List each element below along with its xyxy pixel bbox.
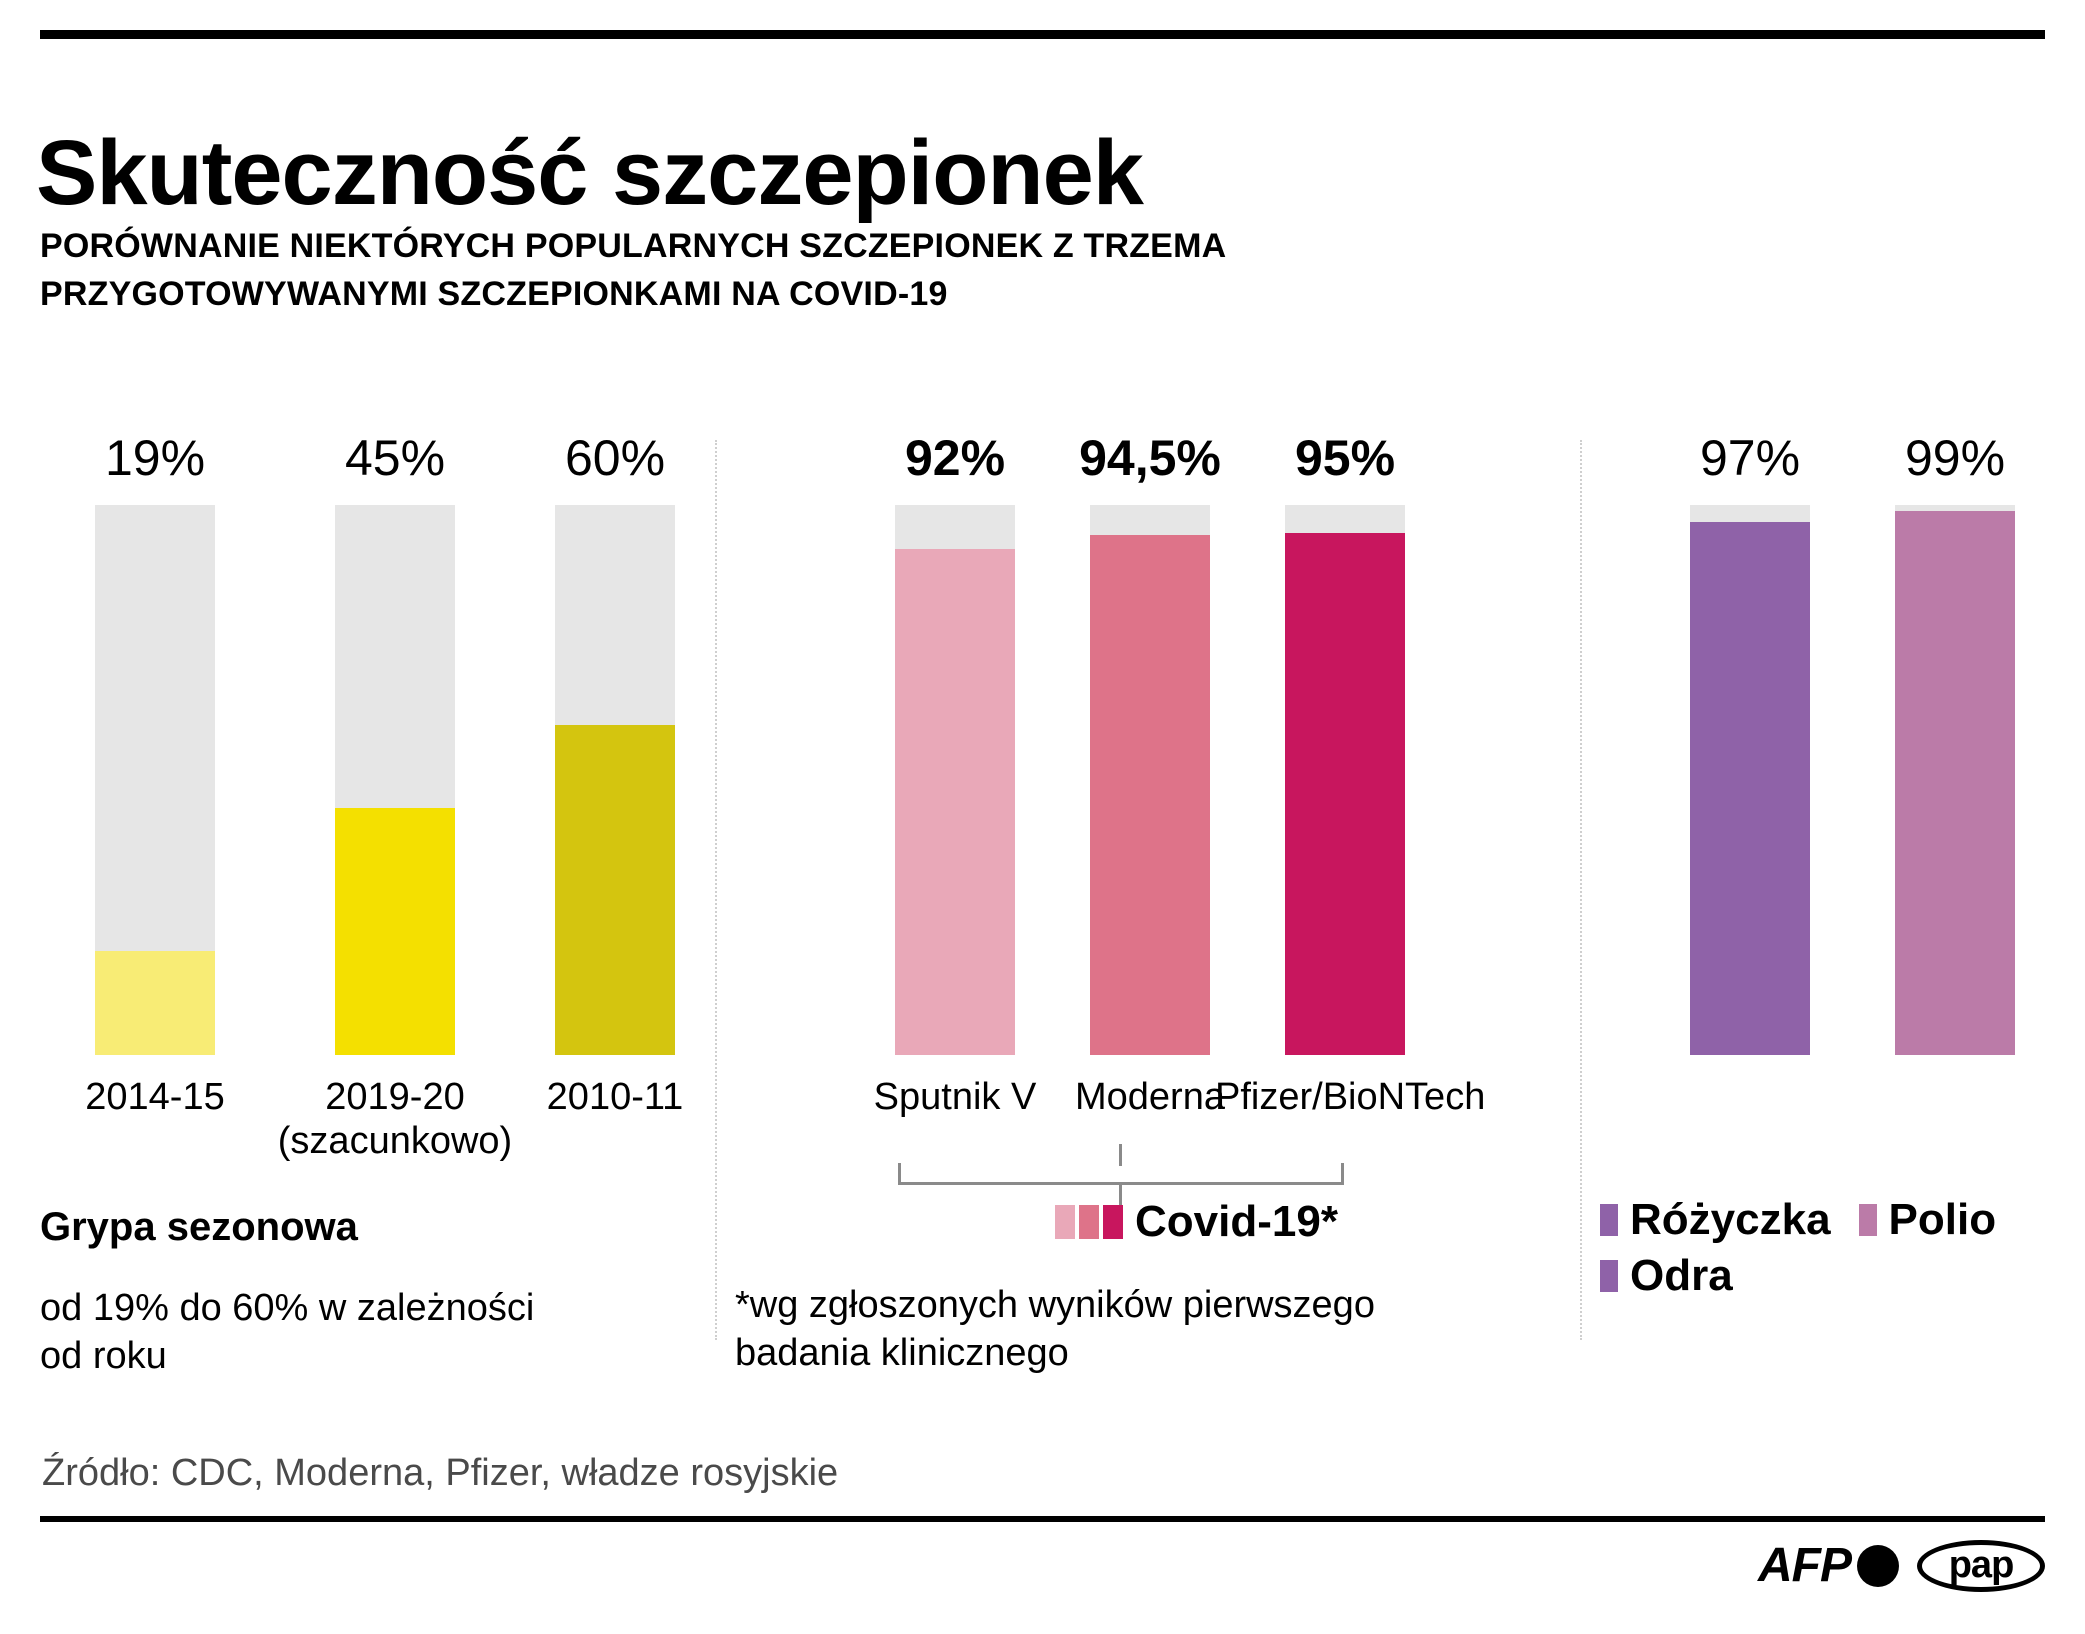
bar-value-label: 92% (855, 433, 1055, 483)
flu-note-line-2: od roku (40, 1333, 700, 1381)
bar-value-label: 94,5% (1050, 433, 1250, 483)
bar-fill (95, 951, 215, 1056)
legend-item-label: Różyczka (1630, 1198, 1831, 1242)
legend-item-label: Odra (1630, 1254, 1733, 1298)
covid-group-bracket-tick (1119, 1144, 1122, 1166)
bar-value-label: 60% (515, 433, 715, 483)
bar-caption-label: Pfizer/BioNTech (1215, 1076, 1485, 1118)
bar-caption: 2010-11 (485, 1075, 745, 1119)
flu-group-title: Grypa sezonowa (40, 1205, 358, 1250)
legend-item: Polio (1859, 1198, 1997, 1242)
bar-caption-label: Moderna (1075, 1076, 1225, 1118)
bar-caption: Pfizer/BioNTech (1215, 1075, 1475, 1119)
bar-fill (1690, 522, 1810, 1056)
bar-caption-label: 2019-20 (325, 1076, 464, 1118)
legend-row: Odra (1600, 1254, 2070, 1298)
legend-item: Odra (1600, 1254, 1733, 1298)
afp-dot-icon (1857, 1545, 1899, 1587)
bar-fill (335, 808, 455, 1056)
pap-logo: pap (1917, 1540, 2045, 1592)
bar-value-label: 95% (1245, 433, 1445, 483)
bar-track (335, 505, 455, 1055)
bar-track (1090, 505, 1210, 1055)
bar-fill (1895, 511, 2015, 1056)
bar-track (95, 505, 215, 1055)
bar-fill (1090, 535, 1210, 1055)
legend-covid-swatches (1055, 1205, 1123, 1239)
logo-group: AFP pap (1758, 1540, 2045, 1592)
bar-track (895, 505, 1015, 1055)
legend-item: Różyczka (1600, 1198, 1831, 1242)
bar-fill (1285, 533, 1405, 1056)
bar-value-label: 97% (1650, 433, 1850, 483)
pap-logo-text: pap (1949, 1546, 2014, 1584)
legend-swatch (1859, 1204, 1877, 1236)
flu-note-line-1: od 19% do 60% w zależności (40, 1285, 700, 1333)
legend-other-vaccines: RóżyczkaPolioOdra (1600, 1198, 2070, 1310)
covid-footnote-line-1: *wg zgłoszonych wyników pierwszego (735, 1282, 1555, 1330)
bar-caption-label: 2014-15 (85, 1076, 224, 1118)
source-line: Źródło: CDC, Moderna, Pfizer, władze ros… (42, 1452, 838, 1495)
afp-logo-text: AFP (1758, 1542, 1851, 1590)
legend-covid: Covid-19* (1055, 1200, 1338, 1244)
covid-footnote: *wg zgłoszonych wyników pierwszego badan… (735, 1282, 1555, 1378)
infographic-page: Skuteczność szczepionek PORÓWNANIE NIEKT… (0, 0, 2085, 1634)
bar-fill (895, 549, 1015, 1055)
legend-covid-label: Covid-19* (1135, 1200, 1338, 1244)
bar-caption-label: 2010-11 (547, 1076, 684, 1118)
bar-fill (555, 725, 675, 1055)
legend-item-label: Polio (1889, 1198, 1997, 1242)
bar-value-label: 45% (295, 433, 495, 483)
covid-footnote-line-2: badania klinicznego (735, 1330, 1555, 1378)
legend-swatch (1600, 1204, 1618, 1236)
legend-swatch (1079, 1205, 1099, 1239)
covid-group-bracket (898, 1163, 1344, 1185)
bar-caption-label: Sputnik V (874, 1076, 1037, 1118)
bar-track (1285, 505, 1405, 1055)
bar-track (555, 505, 675, 1055)
flu-group-note: od 19% do 60% w zależności od roku (40, 1285, 700, 1381)
bar-value-label: 19% (55, 433, 255, 483)
bar-track (1690, 505, 1810, 1055)
legend-swatch (1055, 1205, 1075, 1239)
bar-caption: 2014-15 (25, 1075, 285, 1119)
legend-row: RóżyczkaPolio (1600, 1198, 2070, 1242)
bar-chart-plot: 19%2014-1545%2019-20(szacunkowo)60%2010-… (0, 0, 2085, 1634)
afp-logo: AFP (1758, 1542, 1899, 1590)
legend-swatch (1103, 1205, 1123, 1239)
legend-swatch (1600, 1260, 1618, 1292)
bar-track (1895, 505, 2015, 1055)
bar-value-label: 99% (1855, 433, 2055, 483)
bottom-divider-rule (40, 1516, 2045, 1522)
bar-caption-sublabel: (szacunkowo) (265, 1119, 525, 1163)
